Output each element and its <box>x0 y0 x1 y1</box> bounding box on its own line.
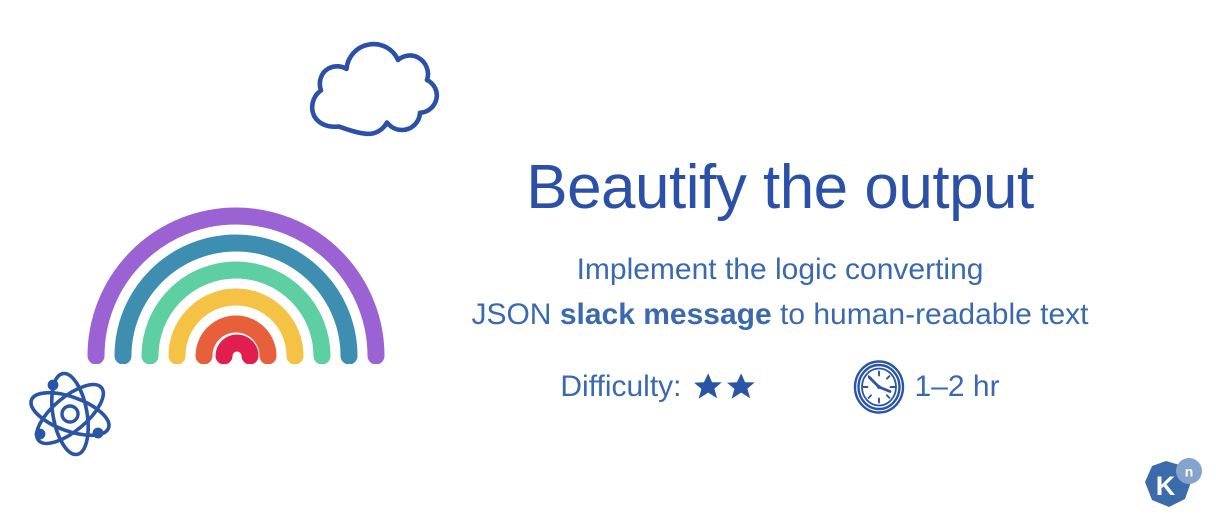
duration-group: 1–2 hr <box>853 360 1000 414</box>
star-icon <box>725 371 757 403</box>
rainbow-arc-teal <box>123 243 349 356</box>
page-title: Beautify the output <box>400 155 1160 221</box>
atom-illustration <box>22 368 118 460</box>
kn-logo-k: K <box>1156 471 1176 501</box>
kn-logo[interactable]: K n <box>1139 455 1205 517</box>
content-block: Beautify the output Implement the logic … <box>400 155 1160 414</box>
cloud-illustration <box>300 38 450 143</box>
kn-logo-n: n <box>1185 464 1194 480</box>
page-subtitle: Implement the logic converting JSON slac… <box>400 247 1160 338</box>
cloud-outline-path <box>312 44 437 134</box>
rainbow-arc-yellow <box>177 297 295 356</box>
star-icon <box>692 371 724 403</box>
atom-orbit-3 <box>28 375 113 454</box>
difficulty-label: Difficulty: <box>560 372 681 402</box>
rainbow-arc-crimson <box>224 343 250 356</box>
subtitle-line-2-prefix: JSON <box>471 298 559 331</box>
subtitle-line-2: JSON slack message to human-readable tex… <box>400 292 1160 338</box>
duration-label: 1–2 hr <box>915 372 1000 402</box>
slide-canvas: Beautify the output Implement the logic … <box>0 0 1216 532</box>
difficulty-rating <box>692 371 757 403</box>
atom-orbit-1 <box>26 384 115 444</box>
clock-icon <box>853 360 905 414</box>
atom-electrons <box>35 380 104 440</box>
rainbow-arc-mint <box>150 270 322 356</box>
atom-nucleus <box>62 406 78 422</box>
rainbow-illustration <box>84 188 388 364</box>
difficulty-group: Difficulty: <box>560 371 756 403</box>
meta-row: Difficulty: <box>400 360 1160 414</box>
rainbow-arc-orange <box>204 324 268 356</box>
subtitle-line-2-suffix: to human-readable text <box>772 298 1089 331</box>
atom-orbit-2 <box>46 371 94 458</box>
subtitle-line-1: Implement the logic converting <box>400 247 1160 293</box>
rainbow-arc-purple <box>96 216 376 356</box>
subtitle-line-2-emphasis: slack message <box>560 298 772 331</box>
